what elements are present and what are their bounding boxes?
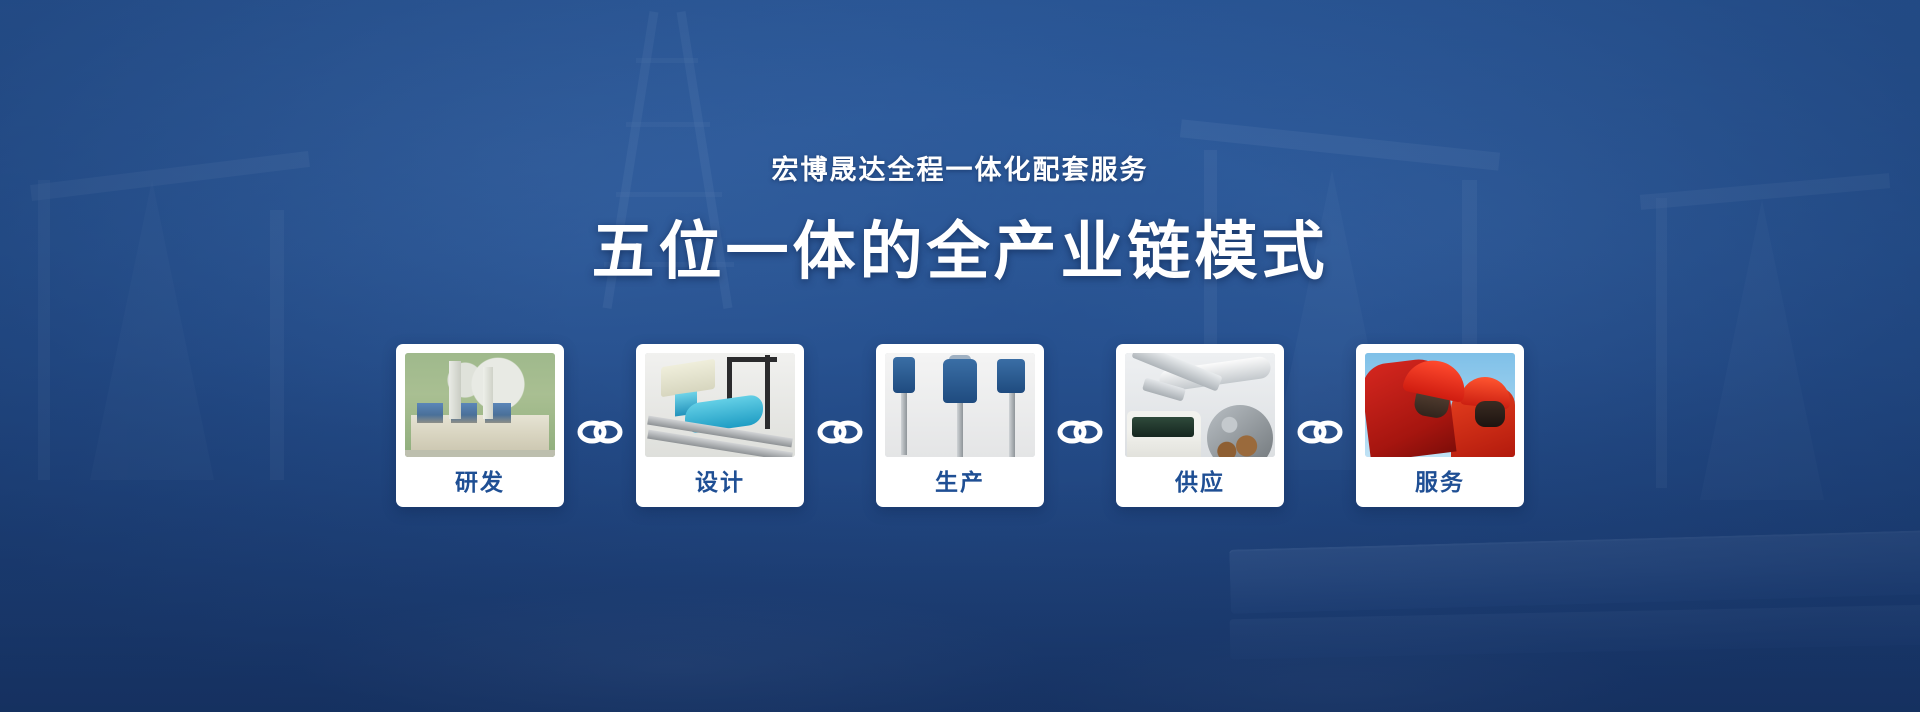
step-image-research	[405, 353, 555, 457]
step-label-service: 服务	[1365, 457, 1515, 507]
promo-banner: 宏博晟达全程一体化配套服务 五位一体的全产业链模式 研发	[0, 0, 1920, 712]
step-label-supply: 供应	[1125, 457, 1275, 507]
step-card-research[interactable]: 研发	[396, 344, 564, 507]
step-image-design	[645, 353, 795, 457]
step-card-service[interactable]: 服务	[1356, 344, 1524, 507]
step-image-production	[885, 353, 1035, 457]
step-card-supply[interactable]: 供应	[1116, 344, 1284, 507]
step-image-supply	[1125, 353, 1275, 457]
step-label-production: 生产	[885, 457, 1035, 507]
step-label-design: 设计	[645, 457, 795, 507]
step-label-research: 研发	[405, 457, 555, 507]
step-image-service	[1365, 353, 1515, 457]
step-card-design[interactable]: 设计	[636, 344, 804, 507]
value-chain-steps: 研发	[0, 344, 1920, 507]
banner-subtitle: 宏博晟达全程一体化配套服务	[0, 0, 1920, 187]
step-card-production[interactable]: 生产	[876, 344, 1044, 507]
banner-content: 宏博晟达全程一体化配套服务 五位一体的全产业链模式 研发	[0, 0, 1920, 712]
banner-title: 五位一体的全产业链模式	[0, 201, 1920, 292]
